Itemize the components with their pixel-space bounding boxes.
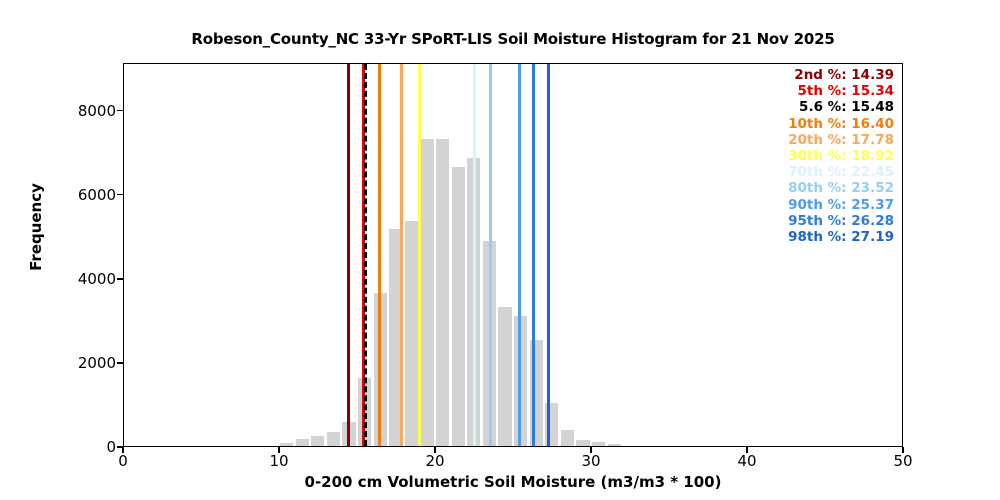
percentile-lines: [124, 64, 902, 446]
percentile-line: [518, 64, 521, 446]
percentile-line: [378, 64, 381, 446]
x-tick-label: 20: [405, 452, 465, 470]
y-tick-mark: [117, 446, 123, 448]
y-tick-label: 6000: [46, 186, 116, 204]
legend-entry: 2nd %: 14.39: [788, 67, 894, 83]
plot-area: 2nd %: 14.395th %: 15.345.6 %: 15.4810th…: [123, 63, 903, 447]
y-tick-mark: [117, 362, 123, 364]
y-tick-label: 0: [46, 438, 116, 456]
legend-entry: 70th %: 22.45: [788, 164, 894, 180]
percentile-line: [347, 64, 350, 446]
y-tick-mark: [117, 278, 123, 280]
percentile-line: [489, 64, 492, 446]
x-tick-label: 30: [561, 452, 621, 470]
y-tick-mark: [117, 194, 123, 196]
legend-entry: 5th %: 15.34: [788, 83, 894, 99]
chart-title: Robeson_County_NC 33-Yr SPoRT-LIS Soil M…: [123, 30, 903, 48]
percentile-line: [473, 64, 476, 446]
legend-entry: 80th %: 23.52: [788, 180, 894, 196]
legend: 2nd %: 14.395th %: 15.345.6 %: 15.4810th…: [788, 67, 894, 245]
x-tick-label: 10: [249, 452, 309, 470]
percentile-line: [418, 64, 421, 446]
legend-entry: 10th %: 16.40: [788, 116, 894, 132]
y-tick-label: 4000: [46, 270, 116, 288]
legend-entry: 95th %: 26.28: [788, 213, 894, 229]
percentile-line: [364, 64, 367, 446]
y-tick-label: 2000: [46, 354, 116, 372]
x-axis-label: 0-200 cm Volumetric Soil Moisture (m3/m3…: [123, 473, 903, 491]
x-tick-label: 40: [717, 452, 777, 470]
legend-entry: 20th %: 17.78: [788, 132, 894, 148]
legend-entry: 90th %: 25.37: [788, 197, 894, 213]
legend-entry: 98th %: 27.19: [788, 229, 894, 245]
y-tick-mark: [117, 110, 123, 112]
percentile-line: [400, 64, 403, 446]
histogram-figure: Robeson_County_NC 33-Yr SPoRT-LIS Soil M…: [0, 0, 1000, 500]
legend-entry: 5.6 %: 15.48: [788, 99, 894, 115]
y-axis-label: Frequency: [27, 147, 45, 307]
x-tick-label: 50: [873, 452, 933, 470]
percentile-line: [547, 64, 550, 446]
percentile-line: [532, 64, 535, 446]
legend-entry: 30th %: 18.92: [788, 148, 894, 164]
y-tick-label: 8000: [46, 102, 116, 120]
